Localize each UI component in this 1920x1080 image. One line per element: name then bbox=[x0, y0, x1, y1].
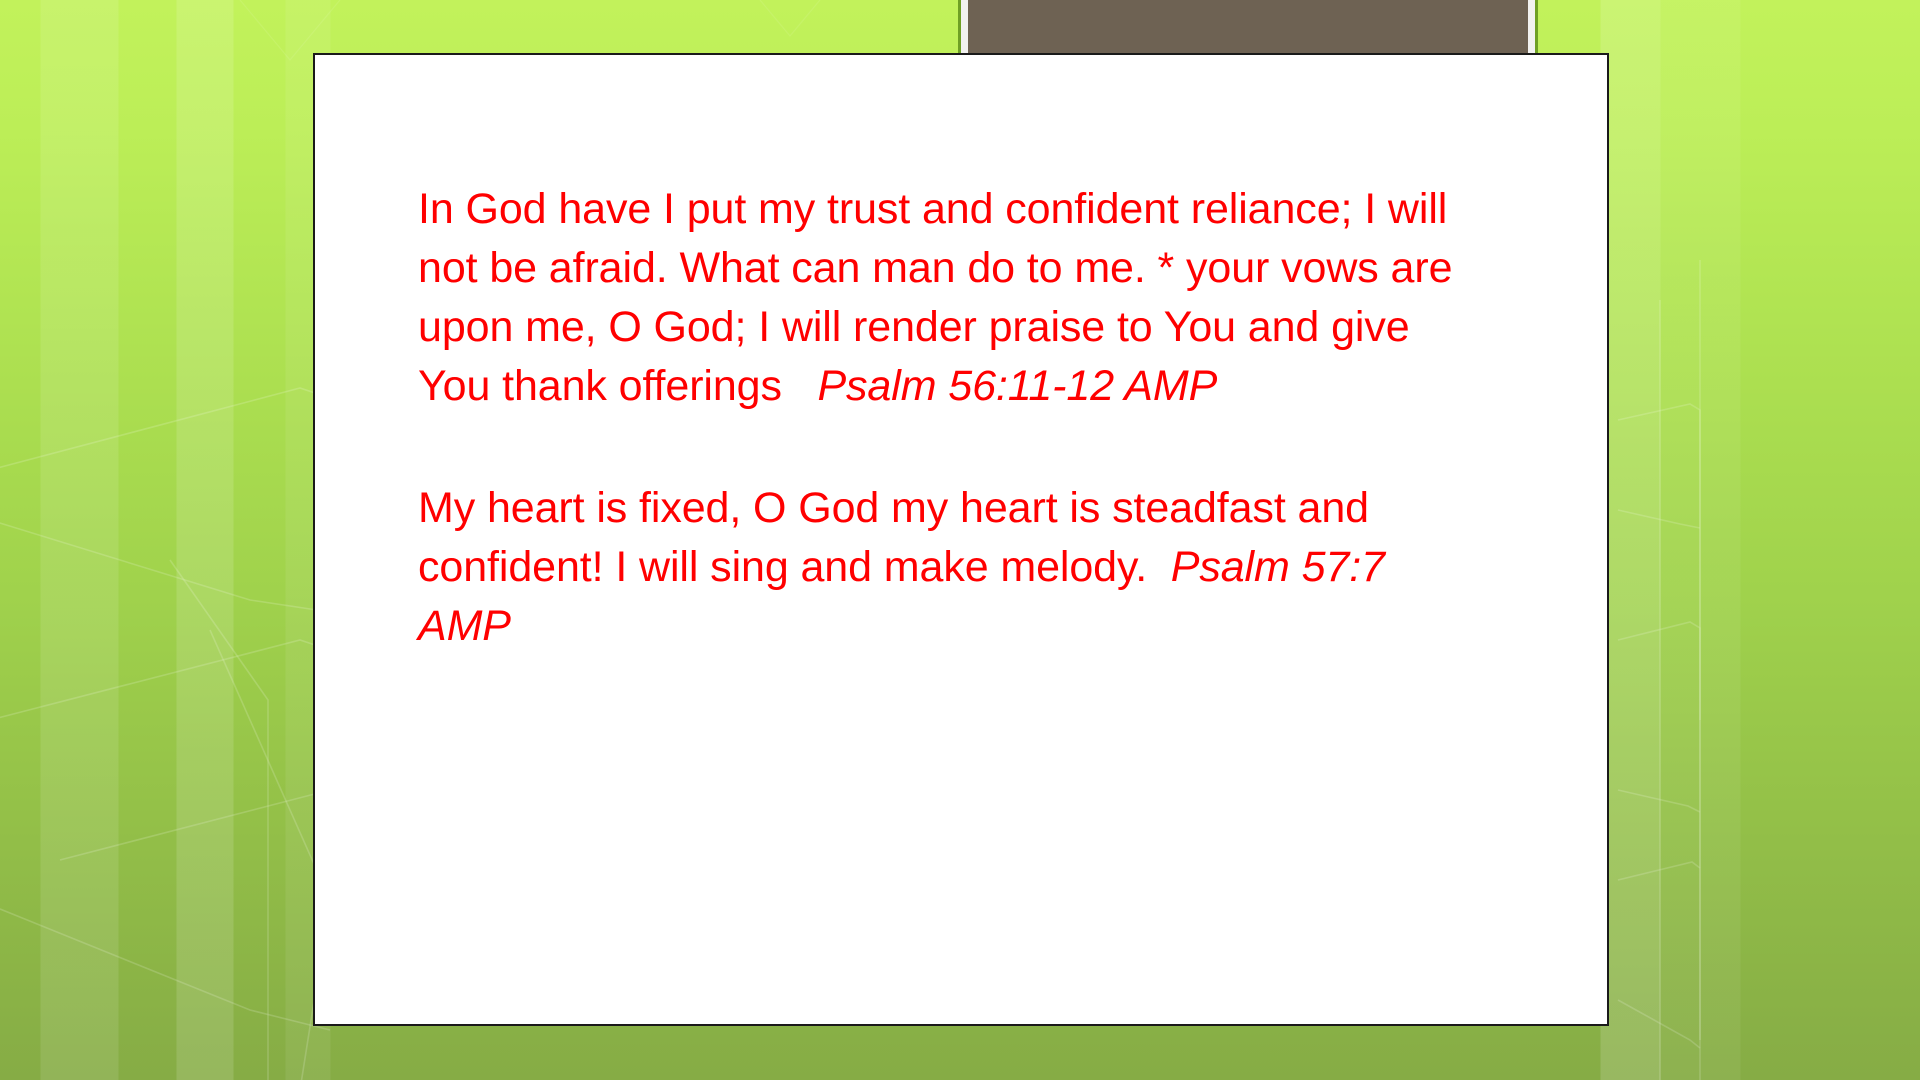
verse-block: My heart is fixed, O God my heart is ste… bbox=[418, 479, 1478, 656]
scripture-text-body: In God have I put my trust and confident… bbox=[418, 180, 1478, 656]
verse-block: In God have I put my trust and confident… bbox=[418, 180, 1478, 416]
presentation-slide: In God have I put my trust and confident… bbox=[0, 0, 1920, 1080]
slide-content-card: In God have I put my trust and confident… bbox=[313, 53, 1609, 1026]
verse-reference: Psalm 56:11-12 AMP bbox=[782, 362, 1217, 410]
